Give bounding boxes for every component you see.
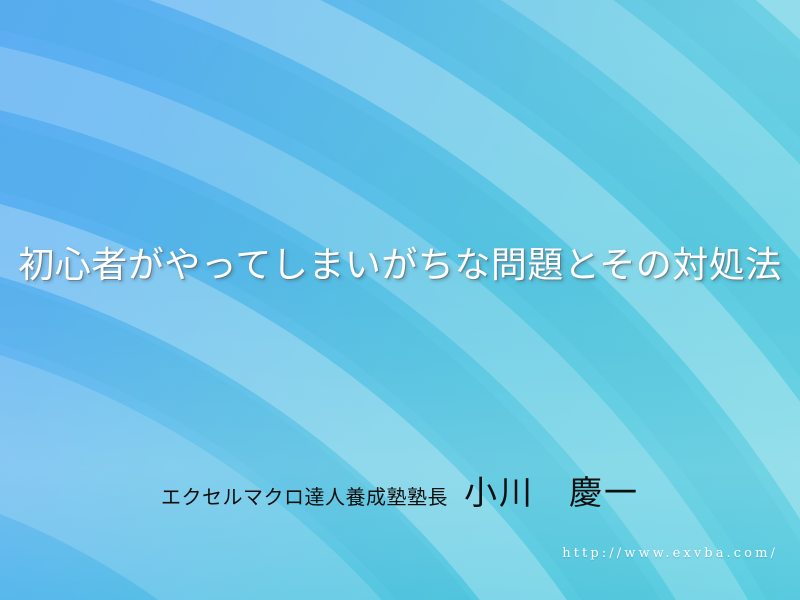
- presenter-role: エクセルマクロ達人養成塾塾長: [161, 485, 448, 509]
- title-slide: 初心者がやってしまいがちな問題とその対処法 エクセルマクロ達人養成塾塾長小川 慶…: [0, 0, 800, 600]
- presenter-name: 小川 慶一: [464, 473, 639, 512]
- website-url: http://www.exvba.com/: [562, 546, 778, 561]
- slide-content: 初心者がやってしまいがちな問題とその対処法 エクセルマクロ達人養成塾塾長小川 慶…: [0, 0, 800, 600]
- slide-title: 初心者がやってしまいがちな問題とその対処法: [0, 243, 800, 289]
- presenter-byline: エクセルマクロ達人養成塾塾長小川 慶一: [0, 466, 800, 514]
